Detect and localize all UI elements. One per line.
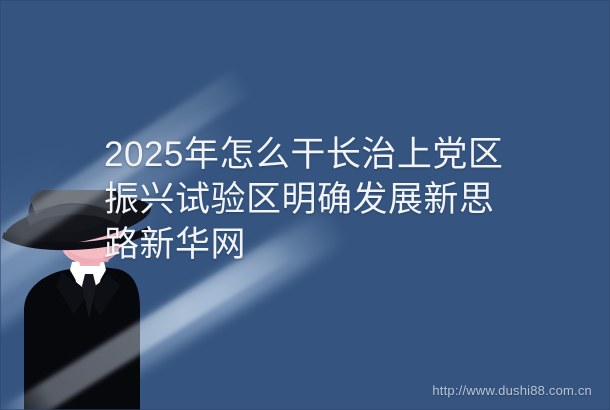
page-title: 2025年怎么干长治上党区振兴试验区明确发展新思路新华网 — [104, 132, 514, 267]
article-cover-image: 2025年怎么干长治上党区振兴试验区明确发展新思路新华网 http://www.… — [0, 0, 610, 410]
watermark-url: http://www.dushi88.com.cn — [432, 383, 592, 398]
suit-shape — [24, 266, 140, 410]
